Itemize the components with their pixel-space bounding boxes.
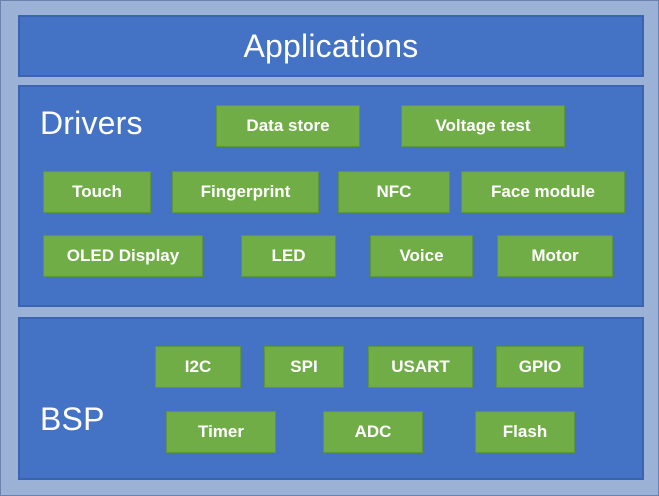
layer-applications-label: Applications: [20, 30, 642, 62]
module-face-module[interactable]: Face module: [461, 171, 625, 213]
module-usart[interactable]: USART: [368, 346, 473, 388]
layer-bsp-label: BSP: [40, 403, 105, 435]
layer-applications[interactable]: Applications: [18, 15, 644, 77]
module-i2c[interactable]: I2C: [155, 346, 241, 388]
module-oled-display[interactable]: OLED Display: [43, 235, 203, 277]
module-spi[interactable]: SPI: [264, 346, 344, 388]
module-motor[interactable]: Motor: [497, 235, 613, 277]
module-voice[interactable]: Voice: [370, 235, 473, 277]
module-adc[interactable]: ADC: [323, 411, 423, 453]
module-nfc[interactable]: NFC: [338, 171, 450, 213]
layer-drivers[interactable]: Drivers Data store Voltage test Touch Fi…: [18, 85, 644, 307]
module-touch[interactable]: Touch: [43, 171, 151, 213]
module-data-store[interactable]: Data store: [216, 105, 360, 147]
module-timer[interactable]: Timer: [166, 411, 276, 453]
module-voltage-test[interactable]: Voltage test: [401, 105, 565, 147]
architecture-diagram: Applications Drivers Data store Voltage …: [0, 0, 659, 496]
module-flash[interactable]: Flash: [475, 411, 575, 453]
module-fingerprint[interactable]: Fingerprint: [172, 171, 319, 213]
layer-bsp[interactable]: BSP I2C SPI USART GPIO Timer ADC Flash: [18, 317, 644, 480]
layer-drivers-label: Drivers: [40, 107, 143, 139]
module-led[interactable]: LED: [241, 235, 336, 277]
module-gpio[interactable]: GPIO: [496, 346, 584, 388]
